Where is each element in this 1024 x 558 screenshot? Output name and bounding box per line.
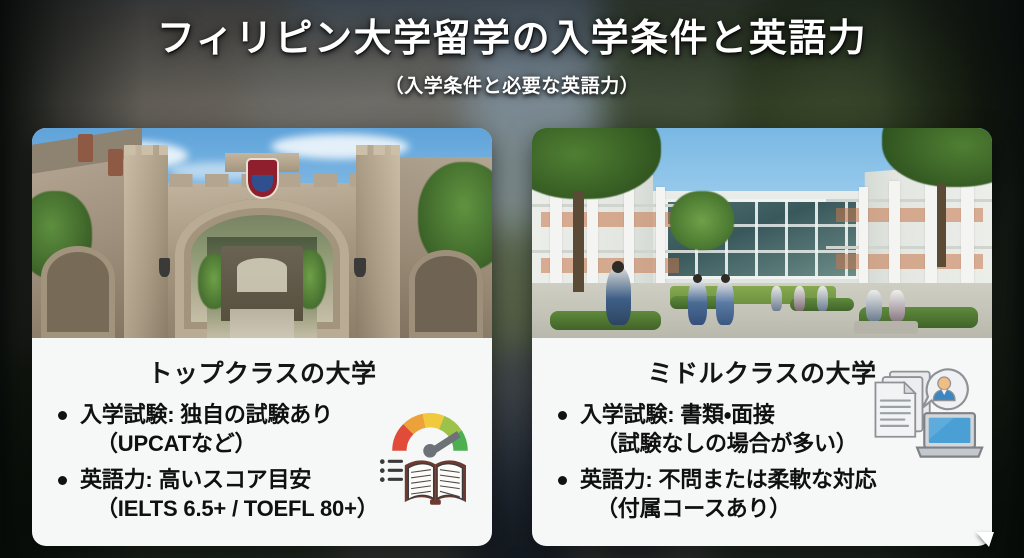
bullet-dot-icon bbox=[58, 476, 67, 485]
card-middle-class[interactable]: ミドルクラスの大学 入学試験: 書類・面接 （試験なしの場合が多い） 英語力: … bbox=[532, 128, 992, 538]
point-main: 入学試験: 独自の試験あり bbox=[80, 402, 333, 427]
card-row: トップクラスの大学 入学試験: 独自の試験あり （UPCATなど） 英語力: 高… bbox=[32, 128, 992, 538]
card-top-class[interactable]: トップクラスの大学 入学試験: 独自の試験あり （UPCATなど） 英語力: 高… bbox=[32, 128, 492, 538]
photo-gothic-university-gate bbox=[32, 128, 492, 338]
slide-header: フィリピン大学留学の入学条件と英語力 （入学条件と必要な英語力） bbox=[0, 18, 1024, 98]
point-sub: （試験なしの場合が多い） bbox=[580, 429, 974, 458]
photo-modern-campus-courtyard bbox=[532, 128, 992, 338]
bullet-dot-icon bbox=[58, 411, 67, 420]
university-crest bbox=[248, 160, 277, 198]
point-sub: （IELTS 6.5+ / TOEFL 80+） bbox=[80, 494, 474, 523]
point-list-top-class: 入学試験: 独自の試験あり （UPCATなど） 英語力: 高いスコア目安 （IE… bbox=[50, 400, 474, 523]
page-subtitle: （入学条件と必要な英語力） bbox=[0, 71, 1024, 98]
bullet-dot-icon bbox=[558, 476, 567, 485]
slide-stage: フィリピン大学留学の入学条件と英語力 （入学条件と必要な英語力） bbox=[0, 0, 1024, 558]
list-item: 英語力: 不問または柔軟な対応 （付属コースあり） bbox=[550, 465, 974, 523]
list-item: 入学試験: 独自の試験あり （UPCATなど） bbox=[50, 400, 474, 458]
card-title-middle-class: ミドルクラスの大学 bbox=[550, 354, 974, 390]
bullet-dot-icon bbox=[558, 411, 567, 420]
list-item: 入学試験: 書類・面接 （試験なしの場合が多い） bbox=[550, 400, 974, 458]
point-main: 英語力: 高いスコア目安 bbox=[80, 467, 311, 492]
page-title: フィリピン大学留学の入学条件と英語力 bbox=[0, 18, 1024, 62]
point-main: 入学試験: 書類・面接 bbox=[580, 402, 775, 427]
point-sub: （付属コースあり） bbox=[580, 494, 974, 523]
point-sub: （UPCATなど） bbox=[80, 429, 474, 458]
point-main: 英語力: 不問または柔軟な対応 bbox=[580, 467, 876, 492]
card-title-top-class: トップクラスの大学 bbox=[50, 354, 474, 390]
card-body-top-class: トップクラスの大学 入学試験: 独自の試験あり （UPCATなど） 英語力: 高… bbox=[32, 338, 492, 546]
list-item: 英語力: 高いスコア目安 （IELTS 6.5+ / TOEFL 80+） bbox=[50, 465, 474, 523]
card-body-middle-class: ミドルクラスの大学 入学試験: 書類・面接 （試験なしの場合が多い） 英語力: … bbox=[532, 338, 992, 546]
point-list-middle-class: 入学試験: 書類・面接 （試験なしの場合が多い） 英語力: 不問または柔軟な対応… bbox=[550, 400, 974, 523]
cursor-pointer-icon bbox=[976, 532, 994, 547]
